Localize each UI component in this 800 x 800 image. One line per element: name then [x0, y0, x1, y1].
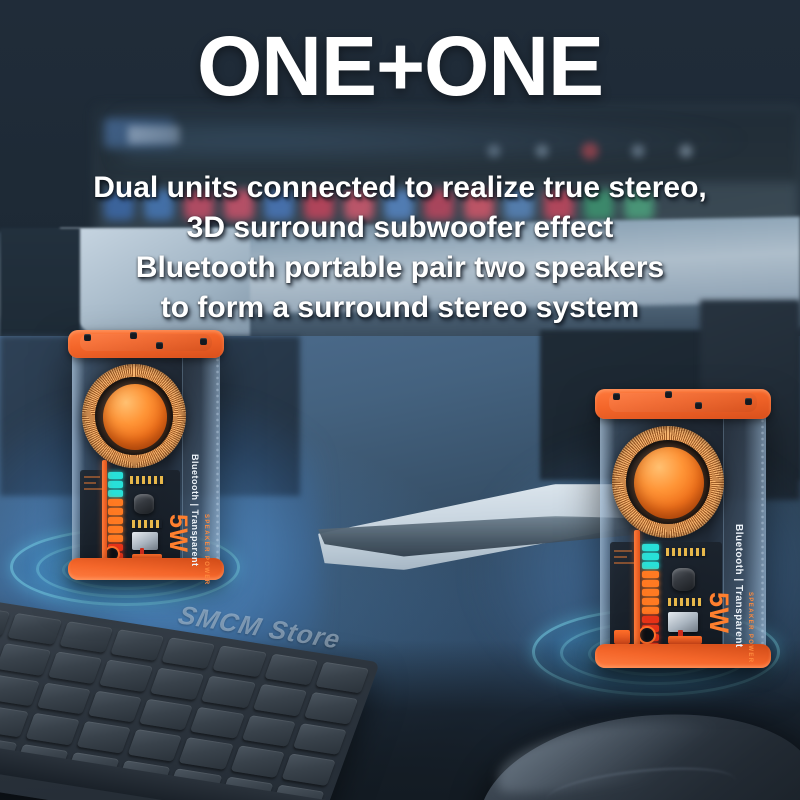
pcb-trace: [614, 550, 632, 552]
pcb-trace: [84, 482, 96, 484]
speaker-right-strut: [634, 530, 640, 648]
keyboard-key: [7, 613, 61, 645]
marketing-copy-line: to form a surround stereo system: [0, 288, 800, 328]
driver-cone: [103, 384, 167, 450]
keyboard-key: [315, 662, 369, 694]
keyboard-key: [76, 721, 130, 753]
keyboard-key: [161, 637, 215, 669]
speaker-left-strut: [102, 460, 107, 566]
led-segment: [108, 508, 123, 515]
top-cap-screw: [745, 398, 752, 405]
keyboard-key: [0, 705, 28, 737]
led-segment: [108, 535, 123, 542]
connector-pins-mid: [132, 520, 162, 528]
led-segment: [108, 499, 123, 506]
top-cap-face: [80, 334, 211, 351]
speaker-left-top-cap: [68, 330, 224, 358]
led-segment: [108, 526, 123, 533]
keyboard-key: [304, 692, 358, 724]
keyboard-key: [281, 754, 335, 786]
pcb-trace: [614, 556, 627, 558]
keyboard-key: [241, 715, 295, 747]
led-segment: [642, 589, 659, 596]
top-cap-screw: [156, 342, 163, 349]
orange-pad-left: [614, 630, 630, 644]
speaker-right-bottom-cap: [595, 644, 771, 668]
keyboard-key: [264, 654, 318, 686]
keyboard-key: [293, 723, 347, 755]
speaker-right-power-sublabel: SPEAKER POWER: [747, 592, 753, 664]
keyboard-key: [139, 699, 193, 731]
keyboard-key: [25, 713, 79, 745]
led-segment: [642, 607, 659, 614]
pcb-trace: [84, 476, 100, 478]
speaker-left-power-sublabel: SPEAKER POWER: [203, 514, 209, 586]
led-segment: [642, 598, 659, 605]
connector-pins-top: [666, 548, 706, 556]
driver-cone: [634, 447, 704, 519]
led-segment: [642, 562, 659, 569]
speaker-right-top-cap: [595, 389, 771, 419]
marketing-copy-line: Bluetooth portable pair two speakers: [0, 248, 800, 288]
speaker-right-port: [638, 626, 656, 644]
keyboard-key: [212, 645, 266, 677]
connector-pins-mid: [668, 598, 702, 606]
top-cap-screw: [84, 334, 91, 341]
led-segment: [642, 571, 659, 578]
speaker-right-power-label: 5W: [703, 592, 734, 634]
led-segment: [642, 544, 659, 551]
capacitor: [134, 494, 154, 514]
capacitor: [672, 568, 695, 591]
product-ad-canvas: Bluetooth | Transparent 5W SPEAKER POWER: [0, 0, 800, 800]
keyboard-key: [179, 737, 233, 769]
speaker-left-driver: [82, 364, 186, 468]
top-cap-screw: [613, 393, 620, 400]
led-segment: [108, 481, 123, 488]
top-cap-screw: [200, 338, 207, 345]
silver-component: [668, 612, 698, 632]
led-segment: [642, 553, 659, 560]
marketing-copy: Dual units connected to realize true ste…: [0, 168, 800, 328]
keyboard-key: [0, 674, 39, 706]
page-title: ONE+ONE: [0, 24, 800, 108]
speaker-left-power-label: 5W: [163, 514, 192, 553]
speaker-right: Bluetooth | Transparent 5W SPEAKER POWER: [600, 396, 766, 666]
keyboard-key: [0, 644, 51, 676]
monitor-window-blob-inner: [128, 126, 180, 144]
marketing-copy-line: Dual units connected to realize true ste…: [0, 168, 800, 208]
keyboard-key: [201, 676, 255, 708]
speaker-right-bluetooth-label: Bluetooth | Transparent: [733, 524, 744, 648]
pcb-trace: [614, 562, 634, 564]
monitor-toolbar-blob: [470, 138, 710, 164]
led-segment: [108, 490, 123, 497]
speaker-right-driver: [612, 426, 724, 538]
keyboard-key: [128, 729, 182, 761]
keyboard-key: [36, 682, 90, 714]
silver-component: [132, 532, 158, 550]
top-cap-screw: [130, 332, 137, 339]
marketing-copy-line: 3D surround subwoofer effect: [0, 208, 800, 248]
keyboard-key: [59, 621, 113, 653]
led-segment: [642, 616, 659, 623]
speaker-left-bottom-cap: [68, 558, 224, 580]
led-segment: [108, 517, 123, 524]
connector-pins-top: [130, 476, 164, 484]
keyboard-key: [99, 660, 153, 692]
led-segment: [642, 580, 659, 587]
speaker-left: Bluetooth | Transparent 5W SPEAKER POWER: [72, 336, 220, 578]
top-cap-screw: [665, 391, 672, 398]
keyboard-key: [47, 652, 101, 684]
top-cap-screw: [695, 402, 702, 409]
top-cap-face: [609, 393, 757, 412]
keyboard-key: [150, 668, 204, 700]
orange-pad: [668, 636, 702, 644]
keyboard-key: [190, 707, 244, 739]
keyboard-key: [88, 690, 142, 722]
keyboard-key: [252, 684, 306, 716]
keyboard-key: [110, 629, 164, 661]
pcb-trace: [84, 488, 102, 490]
led-segment: [108, 472, 123, 479]
keyboard-key: [230, 745, 284, 777]
